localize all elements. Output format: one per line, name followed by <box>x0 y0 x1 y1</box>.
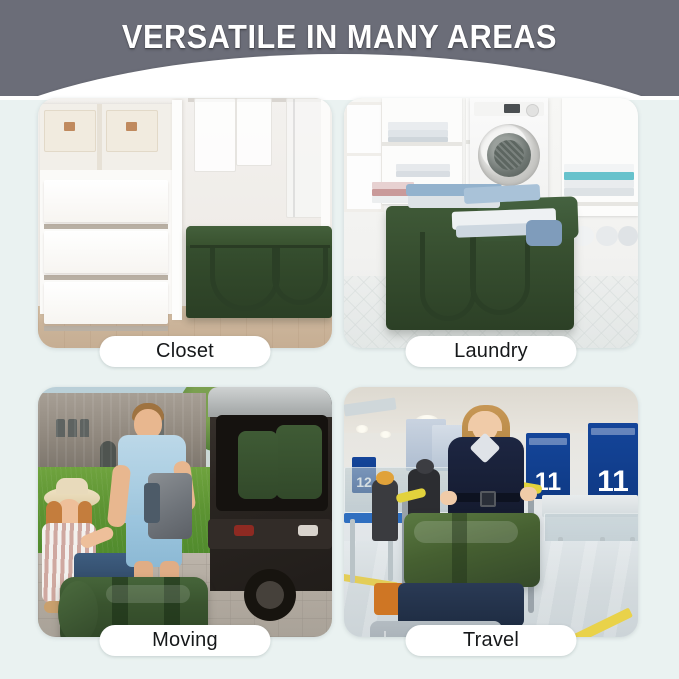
storage-box-icon <box>44 110 96 152</box>
moving-scene <box>38 387 332 637</box>
folded-towel <box>564 180 634 188</box>
bag-lid <box>186 226 332 246</box>
closet-drawer <box>44 282 168 324</box>
panel-laundry[interactable]: Laundry <box>344 98 638 365</box>
closet-scene <box>38 98 332 348</box>
folded-towel <box>396 164 450 171</box>
travel-scene: 11 11 11 12 <box>344 387 638 637</box>
background-traveller <box>372 479 398 541</box>
folded-towel <box>388 137 448 142</box>
green-storage-bag <box>238 431 278 499</box>
folded-towel <box>564 188 634 196</box>
panel-label-text: Closet <box>156 340 214 363</box>
washer-display <box>504 104 520 113</box>
green-storage-bag <box>186 226 332 318</box>
rolled-towel <box>596 226 618 246</box>
gate-number: 11 <box>588 467 638 497</box>
header-curve-decoration <box>0 54 679 96</box>
panel-label-text: Moving <box>152 629 218 652</box>
moving-photo <box>38 387 332 637</box>
reverse-light <box>298 525 318 536</box>
closet-photo <box>38 98 332 348</box>
folded-towel <box>564 164 634 172</box>
sign-header-bar <box>591 428 635 435</box>
closet-drawer <box>44 231 168 273</box>
panel-label-closet: Closet <box>100 336 271 367</box>
bag-handle <box>210 248 280 311</box>
folded-towel <box>388 130 448 137</box>
washer-drum <box>494 140 524 170</box>
folded-towel <box>388 122 448 130</box>
washer-dial <box>526 104 539 117</box>
gate-sign[interactable]: 11 <box>588 423 638 501</box>
storage-box-icon <box>106 110 158 152</box>
garment-bag-icon <box>236 98 272 166</box>
travel-photo: 11 11 11 12 <box>344 387 638 637</box>
laundry-photo <box>344 98 638 348</box>
bag-end-panel <box>58 581 98 637</box>
page-title: VERSATILE IN MANY AREAS <box>24 18 655 56</box>
garment-bag-icon <box>286 98 324 218</box>
panel-label-travel: Travel <box>406 625 577 656</box>
laundry-scene <box>344 98 638 348</box>
infographic-canvas: VERSATILE IN MANY AREAS <box>0 0 679 679</box>
panel-closet[interactable]: Closet <box>38 98 332 365</box>
bag-highlight <box>106 585 190 603</box>
drawer-shadow <box>44 224 168 229</box>
panel-moving[interactable]: Moving <box>38 387 332 654</box>
panel-label-text: Travel <box>463 629 519 652</box>
traveller-head <box>416 459 434 474</box>
washer-door <box>478 124 540 186</box>
bag-handle <box>470 232 530 315</box>
panel-label-moving: Moving <box>100 625 271 656</box>
washer-glass <box>487 133 531 177</box>
ceiling-light <box>380 431 391 438</box>
drawer-shadow <box>44 275 168 280</box>
closet-center-post <box>172 100 182 320</box>
rolled-towel <box>618 226 638 246</box>
grey-duffel-bag <box>148 473 192 539</box>
green-storage-bag <box>404 513 540 587</box>
building-window <box>80 419 89 437</box>
closet-shelf-divider <box>97 104 102 170</box>
bag-handle <box>272 248 328 305</box>
garment-bag-icon <box>194 98 236 172</box>
open-trunk-lid <box>208 387 332 417</box>
panel-grid: Closet <box>38 98 638 654</box>
laundry-shelf <box>382 142 462 146</box>
panel-travel[interactable]: 11 11 11 12 <box>344 387 638 654</box>
building-window <box>56 419 65 437</box>
barrier-post <box>350 519 355 583</box>
bag-strap <box>452 513 467 587</box>
building-window <box>68 419 77 437</box>
tail-light <box>234 525 254 536</box>
building-arch <box>100 441 116 467</box>
closet-drawer <box>44 180 168 222</box>
bag-handle <box>420 232 476 321</box>
sign-header-bar <box>529 438 568 445</box>
drawer-shadow <box>44 326 168 331</box>
panel-label-laundry: Laundry <box>406 336 577 367</box>
traveller-hat <box>376 471 394 485</box>
wheel <box>244 569 296 621</box>
green-storage-bag <box>276 425 322 499</box>
belt-buckle <box>480 491 496 507</box>
ceiling-light <box>356 425 368 433</box>
woman-hand <box>440 491 457 505</box>
folded-towel <box>564 172 634 180</box>
folded-clothes <box>526 220 562 246</box>
header-banner: VERSATILE IN MANY AREAS <box>0 0 679 96</box>
woman-hand <box>520 487 537 501</box>
panel-label-text: Laundry <box>454 340 528 363</box>
glass-partition <box>344 467 458 513</box>
folded-towel <box>396 171 450 177</box>
